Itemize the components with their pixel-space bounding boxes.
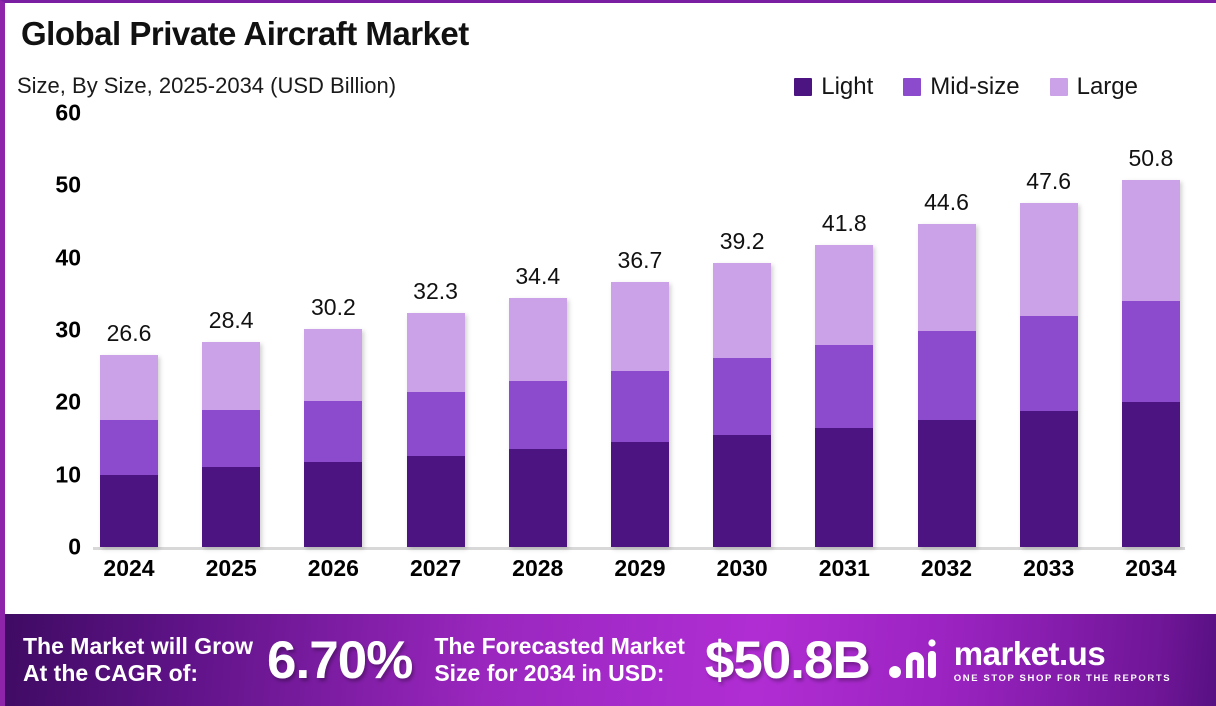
bar-segment-light[interactable] (407, 456, 465, 547)
bar-group: 26.628.430.232.334.436.739.241.844.647.6… (97, 113, 1183, 547)
bar-segment-mid-size[interactable] (1020, 316, 1078, 411)
bar-column[interactable]: 28.4 (199, 113, 263, 547)
bar-column[interactable]: 36.7 (608, 113, 672, 547)
bar-column[interactable]: 30.2 (301, 113, 365, 547)
bar-segment-light[interactable] (1020, 411, 1078, 547)
stacked-bar[interactable] (202, 342, 260, 547)
bar-segment-large[interactable] (304, 329, 362, 401)
cagr-value: 6.70% (267, 630, 412, 691)
bar-segment-mid-size[interactable] (1122, 301, 1180, 402)
cagr-label-line2: At the CAGR of: (23, 660, 198, 686)
brand-tagline: ONE STOP SHOP FOR THE REPORTS (954, 674, 1171, 684)
bar-total-label: 34.4 (515, 263, 560, 290)
bar-segment-large[interactable] (918, 224, 976, 331)
legend-swatch-icon (1050, 78, 1068, 96)
bar-segment-large[interactable] (509, 298, 567, 380)
bar-segment-light[interactable] (815, 428, 873, 547)
legend-label: Light (821, 73, 873, 101)
stacked-bar[interactable] (611, 282, 669, 547)
forecast-label-line1: The Forecasted Market (434, 633, 685, 659)
bar-segment-light[interactable] (509, 449, 567, 547)
bar-segment-large[interactable] (407, 313, 465, 391)
bar-segment-large[interactable] (1020, 203, 1078, 317)
legend-label: Large (1077, 73, 1138, 101)
chart-plot-area: 0102030405060 26.628.430.232.334.436.739… (5, 113, 1216, 608)
bar-segment-light[interactable] (713, 435, 771, 547)
bar-segment-mid-size[interactable] (100, 420, 158, 475)
stacked-bar[interactable] (100, 355, 158, 547)
stacked-bar[interactable] (304, 329, 362, 547)
x-axis-tick-label: 2025 (199, 555, 263, 595)
y-axis: 0102030405060 (5, 113, 93, 547)
x-axis-tick-label: 2029 (608, 555, 672, 595)
bar-total-label: 26.6 (107, 320, 152, 347)
y-axis-tick-label: 20 (55, 389, 81, 416)
bar-column[interactable]: 32.3 (404, 113, 468, 547)
brand-logo[interactable]: market.us ONE STOP SHOP FOR THE REPORTS (888, 637, 1171, 684)
bar-column[interactable]: 34.4 (506, 113, 570, 547)
x-axis-tick-label: 2030 (710, 555, 774, 595)
stacked-bar[interactable] (1020, 203, 1078, 547)
bar-segment-mid-size[interactable] (407, 392, 465, 456)
stacked-bar[interactable] (1122, 180, 1180, 547)
legend-label: Mid-size (930, 73, 1019, 101)
y-axis-tick-label: 30 (55, 317, 81, 344)
y-axis-tick-label: 0 (68, 534, 81, 561)
bar-column[interactable]: 44.6 (915, 113, 979, 547)
x-axis-tick-label: 2034 (1119, 555, 1183, 595)
chart-header: Global Private Aircraft Market Size, By … (5, 3, 1216, 113)
x-axis-tick-label: 2026 (301, 555, 365, 595)
stacked-bar[interactable] (509, 298, 567, 547)
x-axis-tick-label: 2024 (97, 555, 161, 595)
bar-total-label: 39.2 (720, 228, 765, 255)
bar-segment-mid-size[interactable] (304, 401, 362, 462)
bar-segment-light[interactable] (304, 462, 362, 547)
bar-segment-large[interactable] (100, 355, 158, 420)
stacked-bar[interactable] (815, 245, 873, 547)
brand-text: market.us ONE STOP SHOP FOR THE REPORTS (954, 637, 1171, 684)
x-axis: 2024202520262027202820292030203120322033… (97, 555, 1183, 595)
x-axis-tick-label: 2032 (915, 555, 979, 595)
bar-segment-mid-size[interactable] (815, 345, 873, 428)
bar-segment-large[interactable] (611, 282, 669, 371)
cagr-label: The Market will Grow At the CAGR of: (23, 633, 253, 686)
market-us-logo-icon (888, 639, 944, 681)
x-axis-tick-label: 2027 (404, 555, 468, 595)
y-axis-tick-label: 60 (55, 100, 81, 127)
footer-banner: The Market will Grow At the CAGR of: 6.7… (5, 614, 1216, 706)
bar-column[interactable]: 41.8 (812, 113, 876, 547)
forecast-value: $50.8B (705, 630, 870, 691)
bar-segment-light[interactable] (202, 467, 260, 547)
legend-item[interactable]: Large (1050, 73, 1138, 101)
bar-segment-large[interactable] (713, 263, 771, 357)
page-title: Global Private Aircraft Market (21, 15, 469, 53)
bar-column[interactable]: 26.6 (97, 113, 161, 547)
bar-total-label: 32.3 (413, 278, 458, 305)
legend-item[interactable]: Light (794, 73, 873, 101)
bar-column[interactable]: 39.2 (710, 113, 774, 547)
bar-segment-mid-size[interactable] (713, 358, 771, 435)
x-axis-tick-label: 2031 (812, 555, 876, 595)
bar-column[interactable]: 50.8 (1119, 113, 1183, 547)
x-axis-line (93, 547, 1185, 550)
stacked-bar[interactable] (918, 224, 976, 547)
bar-segment-light[interactable] (918, 420, 976, 547)
bar-segment-light[interactable] (611, 442, 669, 547)
bar-total-label: 50.8 (1128, 145, 1173, 172)
infographic-chart-card: Global Private Aircraft Market Size, By … (0, 0, 1216, 706)
y-axis-tick-label: 50 (55, 172, 81, 199)
bar-segment-light[interactable] (100, 475, 158, 547)
legend-item[interactable]: Mid-size (903, 73, 1019, 101)
bar-column[interactable]: 47.6 (1017, 113, 1081, 547)
bar-total-label: 47.6 (1026, 168, 1071, 195)
chart-legend: LightMid-sizeLarge (794, 73, 1138, 101)
bar-segment-mid-size[interactable] (611, 371, 669, 443)
brand-name: market.us (954, 637, 1171, 670)
bar-segment-mid-size[interactable] (202, 410, 260, 468)
bar-segment-light[interactable] (1122, 402, 1180, 547)
bar-segment-large[interactable] (1122, 180, 1180, 302)
cagr-label-line1: The Market will Grow (23, 633, 253, 659)
bar-total-label: 28.4 (209, 307, 254, 334)
stacked-bar[interactable] (407, 313, 465, 547)
chart-subtitle: Size, By Size, 2025-2034 (USD Billion) (17, 73, 396, 99)
forecast-label-line2: Size for 2034 in USD: (434, 660, 664, 686)
y-axis-tick-label: 40 (55, 244, 81, 271)
bar-segment-large[interactable] (815, 245, 873, 346)
x-axis-tick-label: 2033 (1017, 555, 1081, 595)
y-axis-tick-label: 10 (55, 461, 81, 488)
x-axis-tick-label: 2028 (506, 555, 570, 595)
bar-total-label: 41.8 (822, 210, 867, 237)
forecast-label: The Forecasted Market Size for 2034 in U… (434, 633, 685, 686)
bar-segment-mid-size[interactable] (509, 381, 567, 449)
bar-total-label: 30.2 (311, 294, 356, 321)
bar-segment-large[interactable] (202, 342, 260, 410)
bar-total-label: 36.7 (618, 247, 663, 274)
legend-swatch-icon (903, 78, 921, 96)
legend-swatch-icon (794, 78, 812, 96)
bar-segment-mid-size[interactable] (918, 331, 976, 419)
stacked-bar[interactable] (713, 263, 771, 547)
bar-total-label: 44.6 (924, 189, 969, 216)
